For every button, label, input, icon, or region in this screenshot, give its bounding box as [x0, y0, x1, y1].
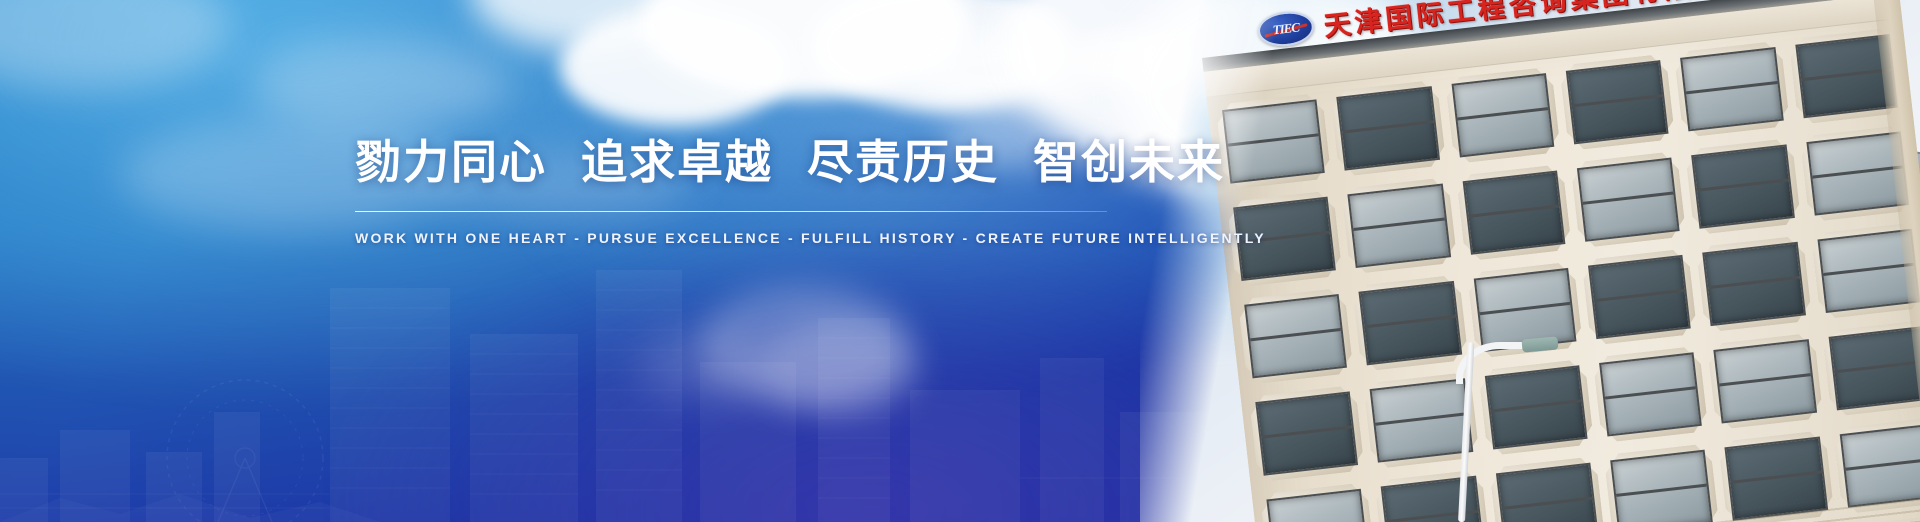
cloud-icon [250, 40, 510, 130]
banner-subtitle: WORK WITH ONE HEART - PURSUE EXCELLENCE … [355, 230, 1195, 246]
window-pane [1566, 60, 1669, 144]
hero-banner: TIEC 天津国际工程咨询集团有限公司 勠力同心追求卓越尽责历史智创未来 WOR… [0, 0, 1920, 522]
window-pane [1451, 73, 1554, 157]
window-pane [1244, 294, 1347, 378]
window-pane [1266, 489, 1369, 522]
banner-copy-block: 勠力同心追求卓越尽责历史智创未来 WORK WITH ONE HEART - P… [355, 136, 1195, 246]
window-pane [1599, 352, 1702, 436]
headline-divider [355, 211, 1107, 212]
facade-bay [1577, 242, 1703, 352]
window-pane [1610, 450, 1713, 522]
facade-bay [1566, 144, 1692, 254]
window-pane [1703, 242, 1806, 326]
facade-bay [1451, 157, 1577, 267]
street-lamp-icon [1440, 342, 1560, 522]
window-pane [1839, 423, 1920, 507]
facade-bay [1713, 423, 1839, 522]
headline-segment: 智创未来 [1033, 135, 1225, 189]
logo-mark-text: TIEC [1272, 21, 1300, 37]
window-pane [1348, 184, 1451, 268]
main-tower [1202, 0, 1920, 522]
street-lamp-head [1522, 336, 1559, 352]
window-pane [1691, 144, 1794, 228]
cloud-icon [760, 320, 920, 415]
window-pane [1577, 157, 1680, 241]
window-pane [1337, 86, 1440, 170]
headline-segment: 追求卓越 [581, 135, 773, 189]
facade-bay [1211, 86, 1337, 196]
facade-bay [1680, 131, 1806, 241]
window-pane [1462, 171, 1565, 255]
facade-bay [1828, 410, 1920, 520]
facade-bay [1702, 326, 1828, 436]
facade-bay [1669, 34, 1795, 144]
facade-bay [1440, 60, 1566, 170]
facade-bay [1336, 171, 1462, 281]
facade-bay [1325, 73, 1451, 183]
office-building-photo: TIEC 天津国际工程咨询集团有限公司 [1140, 0, 1920, 522]
window-pane [1725, 437, 1828, 521]
window-pane [1222, 99, 1325, 183]
facade-bay [1555, 47, 1681, 157]
headline-segment: 勠力同心 [355, 135, 547, 189]
banner-headline: 勠力同心追求卓越尽责历史智创未来 [355, 136, 1195, 189]
window-grid [1207, 20, 1920, 522]
window-pane [1588, 255, 1691, 339]
cloud-icon [640, 330, 770, 400]
window-pane [1255, 391, 1358, 475]
facade-bay [1233, 281, 1359, 391]
window-pane [1828, 326, 1920, 410]
facade-bay [1817, 313, 1920, 423]
window-pane [1680, 47, 1783, 131]
window-pane [1714, 339, 1817, 423]
facade-bay [1244, 378, 1370, 488]
company-logo-icon: TIEC [1256, 8, 1315, 48]
facade-bay [1588, 339, 1714, 449]
tower-facade [1202, 0, 1920, 522]
facade-bay [1599, 437, 1725, 522]
headline-segment: 尽责历史 [807, 135, 999, 189]
facade-bay [1691, 229, 1817, 339]
